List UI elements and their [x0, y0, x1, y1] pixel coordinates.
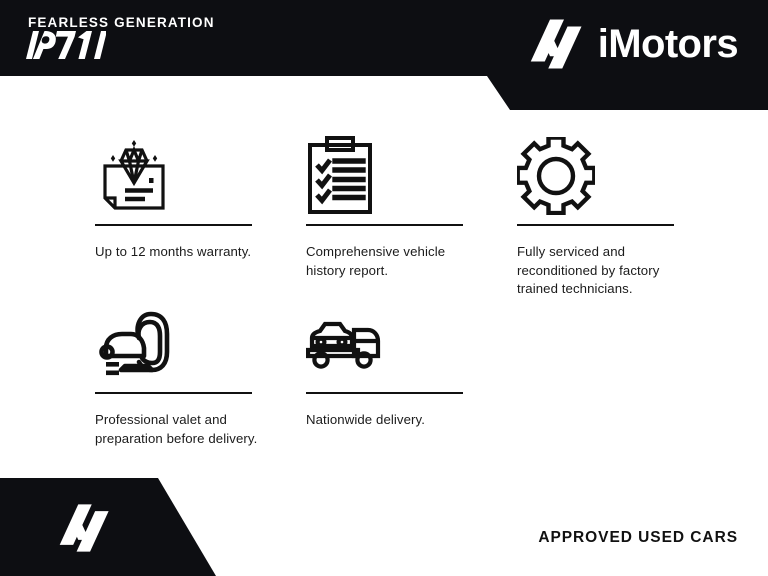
brand-lockup: iMotors: [529, 16, 738, 72]
clipboard-checklist-icon: [306, 132, 482, 220]
divider: [306, 224, 463, 226]
feature-caption: Fully serviced and reconditioned by fact…: [517, 243, 693, 299]
feature-item: Comprehensive vehicle history report.: [306, 132, 482, 280]
diamond-warranty-card-icon: [95, 132, 271, 220]
footer-wedge: [0, 470, 230, 576]
feature-caption: Nationwide delivery.: [306, 411, 482, 430]
divider: [306, 392, 463, 394]
divider: [517, 224, 674, 226]
feature-caption: Up to 12 months warranty.: [95, 243, 271, 262]
car-transporter-truck-icon: [306, 300, 482, 388]
feature-caption: Comprehensive vehicle history report.: [306, 243, 482, 280]
brand-name: iMotors: [598, 24, 738, 64]
feature-caption: Professional valet and preparation befor…: [95, 411, 271, 448]
feature-grid: Up to 12 months warranty.: [0, 112, 768, 464]
imotors-chevron-logo-icon: [58, 500, 112, 556]
vacuum-cleaner-icon: [95, 300, 271, 388]
imotors-chevron-logo-icon: [529, 16, 585, 72]
promo-page: FEARLESS GENERATION iMotors: [0, 0, 768, 576]
feature-item: Professional valet and preparation befor…: [95, 300, 271, 448]
footer-tagline: APPROVED USED CARS: [538, 529, 738, 547]
divider: [95, 392, 252, 394]
feature-item: Fully serviced and reconditioned by fact…: [517, 132, 693, 299]
feature-item: Up to 12 months warranty.: [95, 132, 271, 262]
divider: [95, 224, 252, 226]
feature-item: Nationwide delivery.: [306, 300, 482, 430]
year-1971-logo-icon: [20, 27, 106, 63]
gear-icon: [517, 132, 693, 220]
